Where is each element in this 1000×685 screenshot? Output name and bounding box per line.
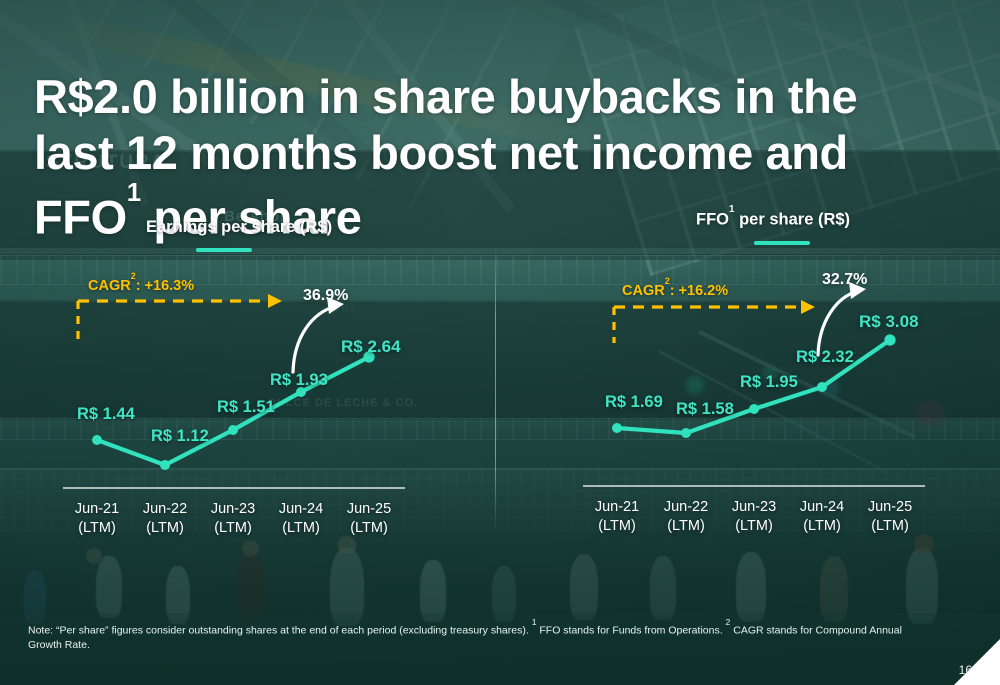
xtick-sub: (LTM)	[282, 520, 320, 536]
chart-eps: Earnings per share (R$) CAGR2: +16.3% 36…	[0, 0, 500, 685]
chart-ffo-graphics	[500, 0, 1000, 685]
presentation-slide: STRUTURA Belshop Bel DULCE DE LECHE & CO…	[0, 0, 1000, 685]
footnote-a: Note: “Per share” figures consider outst…	[28, 624, 532, 636]
cagr-bracket-eps	[78, 294, 282, 340]
xtick-sub: (LTM)	[146, 520, 184, 536]
chart-ffo: FFO1 per share (R$) CAGR2: +16.2% 32.7%	[500, 0, 1000, 685]
xtick-sub: (LTM)	[350, 520, 388, 536]
xtick-sub: (LTM)	[735, 518, 773, 534]
chart-eps-point-label-0: R$ 1.44	[77, 405, 135, 424]
chart-eps-point-label-2: R$ 1.51	[217, 398, 275, 417]
chart-ffo-xtick-4: Jun-25 (LTM)	[845, 498, 935, 536]
chart-ffo-point-label-0: R$ 1.69	[605, 393, 663, 412]
chart-eps-point-label-1: R$ 1.12	[151, 427, 209, 446]
footnote-b: FFO stands for Funds from Operations.	[536, 624, 725, 636]
footnote: Note: “Per share” figures consider outst…	[28, 619, 908, 654]
xtick-label: Jun-22	[143, 501, 187, 517]
chart-ffo-point-label-3: R$ 2.32	[796, 348, 854, 367]
slide-content: R$2.0 billion in share buybacks in the l…	[0, 0, 1000, 685]
footnote-sup-1: 1	[532, 617, 537, 627]
chart-eps-point-label-4: R$ 2.64	[341, 337, 401, 357]
footnote-sup-2: 2	[726, 617, 731, 627]
xtick-sub: (LTM)	[78, 520, 116, 536]
xtick-sub: (LTM)	[214, 520, 252, 536]
chart-ffo-point-label-2: R$ 1.95	[740, 373, 798, 392]
corner-triangle-decoration	[954, 639, 1000, 685]
chart-ffo-point-label-4: R$ 3.08	[859, 312, 919, 332]
xtick-label: Jun-21	[595, 499, 639, 515]
xtick-label: Jun-22	[664, 499, 708, 515]
xtick-sub: (LTM)	[667, 518, 705, 534]
cagr-bracket-ffo	[614, 300, 815, 343]
growth-arrow-eps	[293, 297, 344, 372]
xtick-sub: (LTM)	[871, 518, 909, 534]
chart-eps-graphics	[0, 0, 500, 685]
xtick-sub: (LTM)	[598, 518, 636, 534]
xtick-sub: (LTM)	[803, 518, 841, 534]
xtick-label: Jun-24	[279, 501, 323, 517]
xtick-label: Jun-24	[800, 499, 844, 515]
xtick-label: Jun-21	[75, 501, 119, 517]
chart-ffo-point-label-1: R$ 1.58	[676, 400, 734, 419]
chart-eps-xtick-4: Jun-25 (LTM)	[324, 500, 414, 538]
xtick-label: Jun-25	[868, 499, 912, 515]
xtick-label: Jun-23	[732, 499, 776, 515]
xtick-label: Jun-23	[211, 501, 255, 517]
chart-eps-point-label-3: R$ 1.93	[270, 371, 328, 390]
xtick-label: Jun-25	[347, 501, 391, 517]
